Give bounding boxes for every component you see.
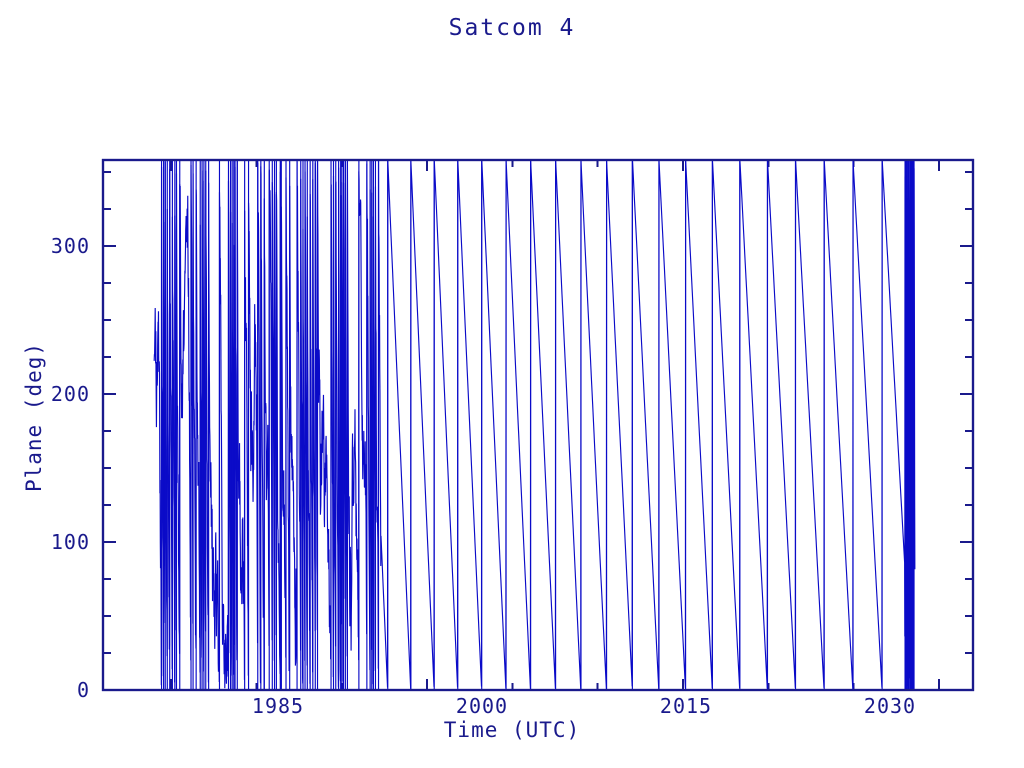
x-tick-label-2015: 2015 bbox=[660, 694, 712, 718]
y-tick-label-300: 300 bbox=[40, 234, 90, 258]
x-tick-label-2000: 2000 bbox=[456, 694, 508, 718]
x-axis-label: Time (UTC) bbox=[0, 718, 1024, 742]
y-tick-label-100: 100 bbox=[40, 530, 90, 554]
chart-canvas: Satcom 4 Plane (deg) Time (UTC) 1985 200… bbox=[0, 0, 1024, 768]
y-axis-label: Plane (deg) bbox=[22, 297, 46, 537]
plot-area bbox=[0, 0, 1024, 768]
y-tick-label-0: 0 bbox=[60, 678, 90, 702]
x-tick-label-2030: 2030 bbox=[864, 694, 916, 718]
y-tick-label-200: 200 bbox=[40, 382, 90, 406]
x-tick-label-1985: 1985 bbox=[252, 694, 304, 718]
